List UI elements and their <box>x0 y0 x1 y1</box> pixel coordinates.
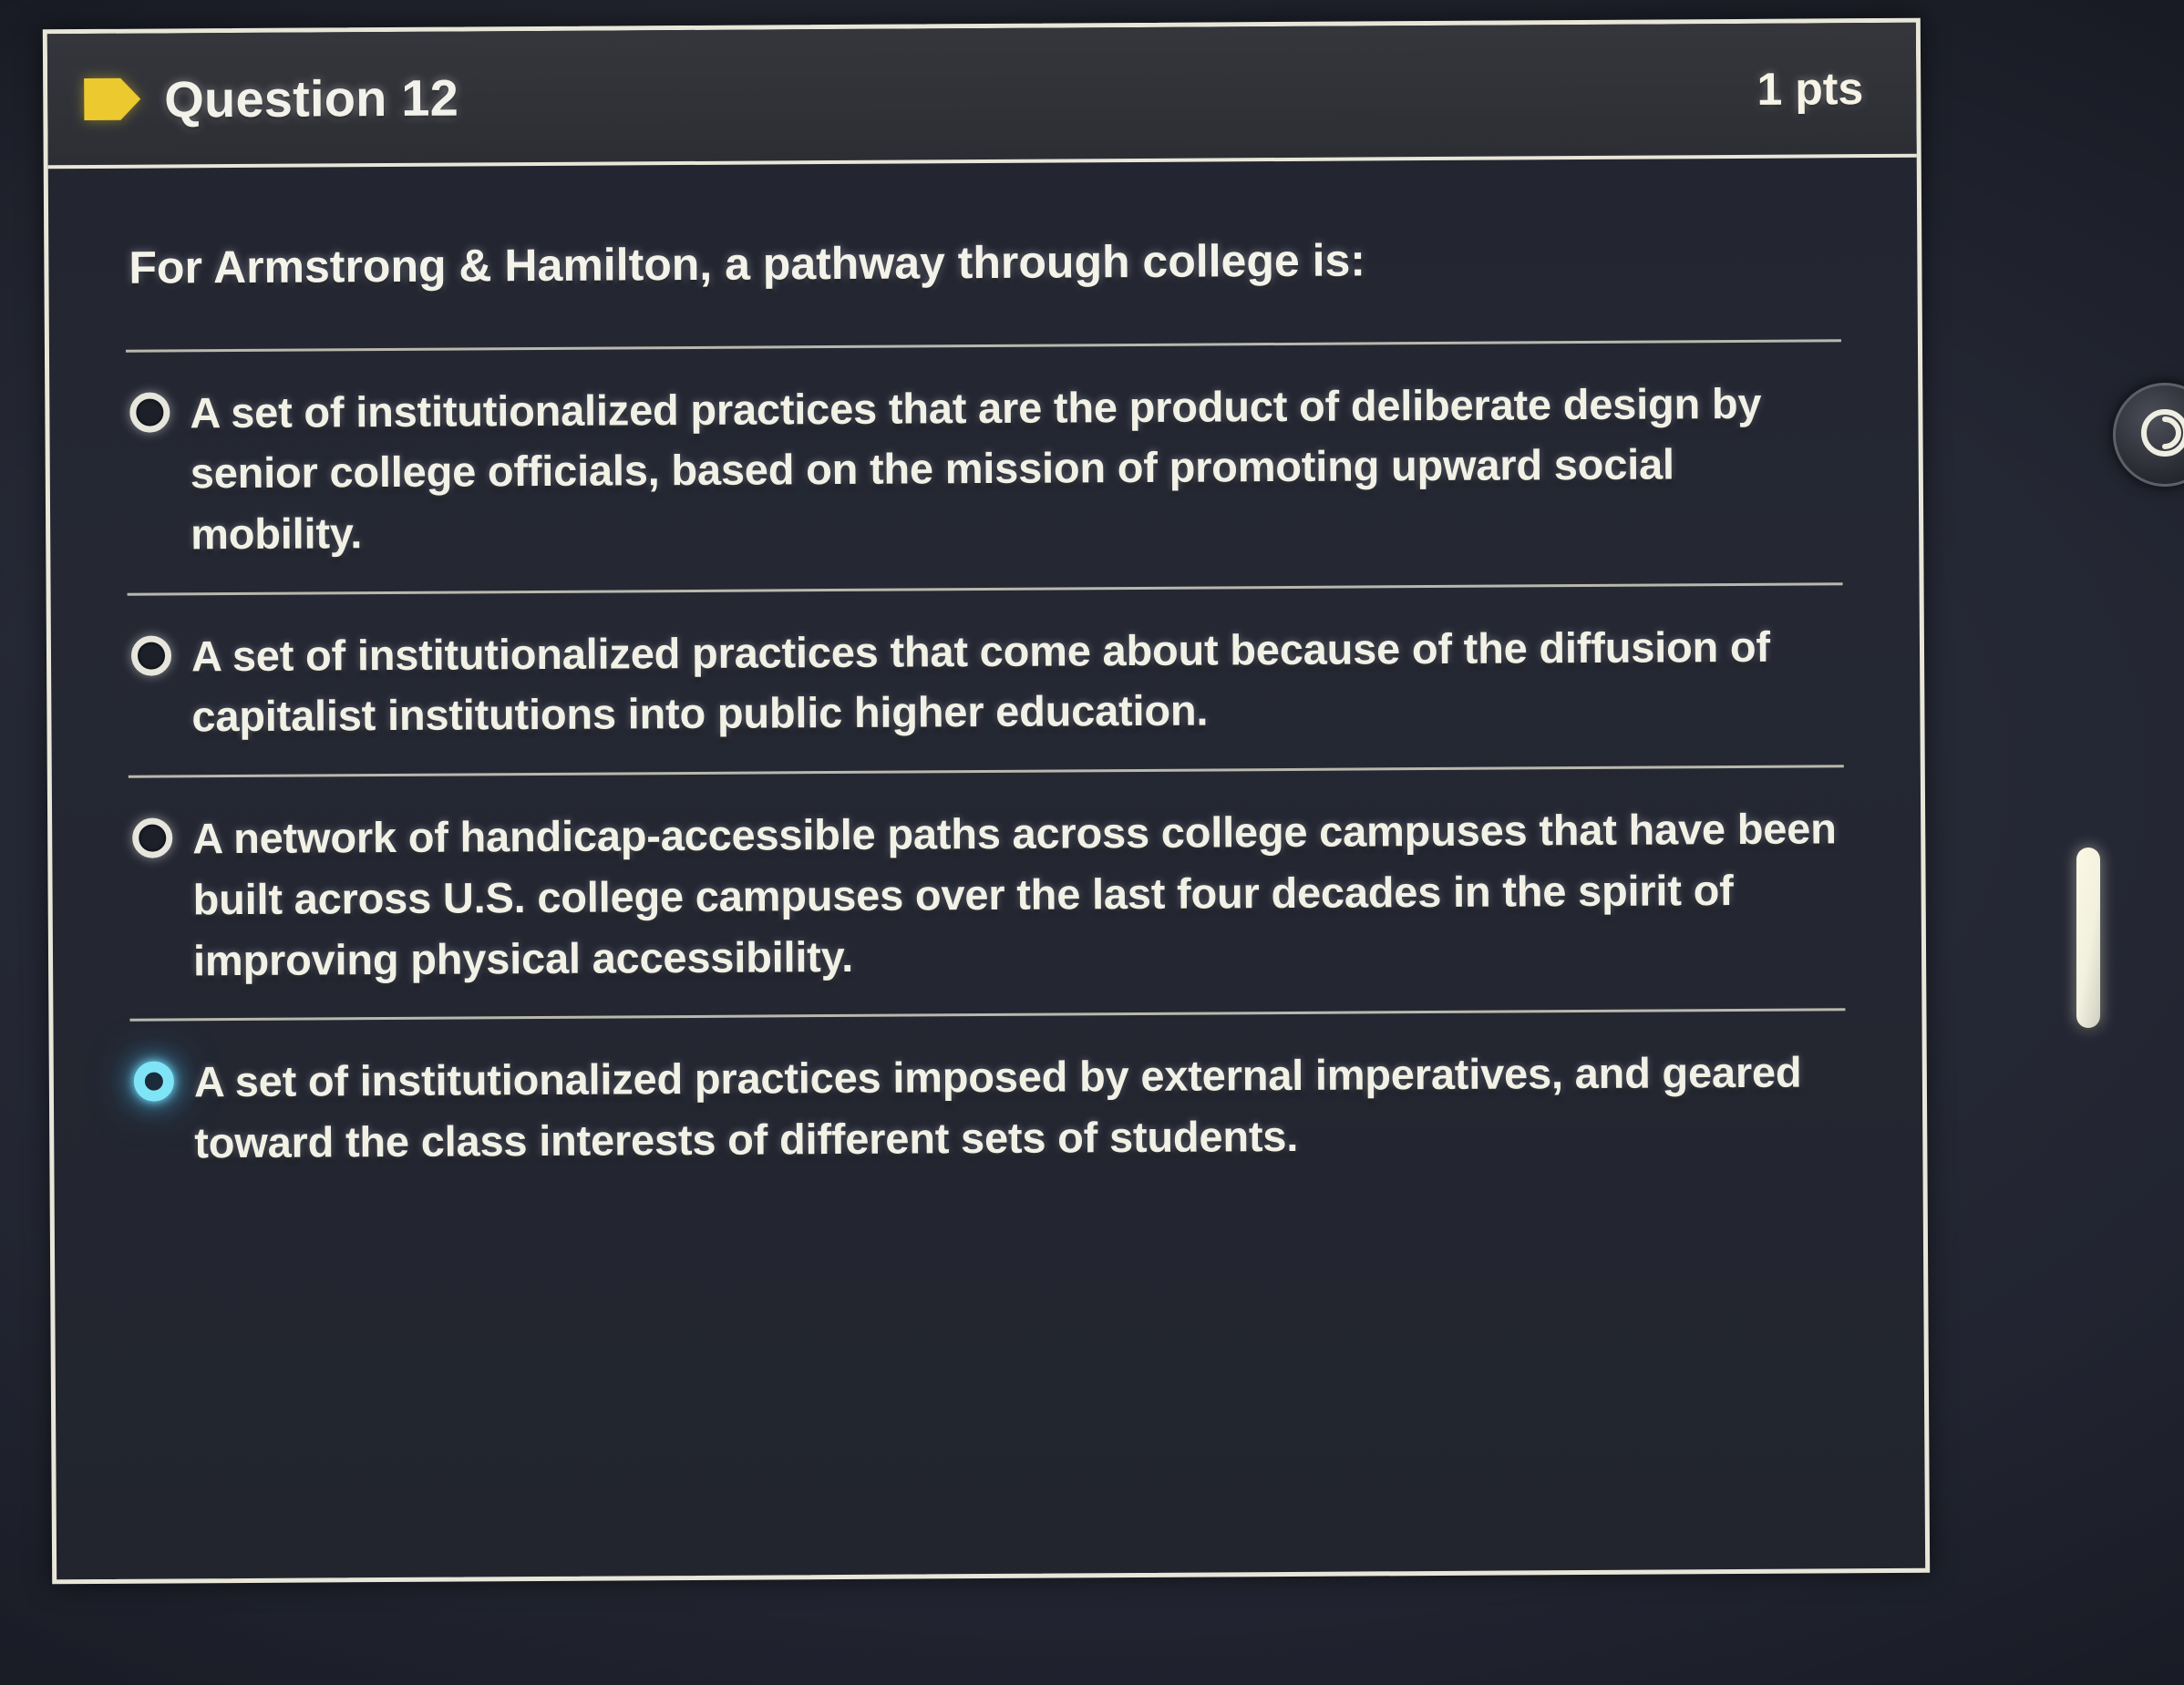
app-logo-glyph <box>2137 406 2184 463</box>
answer-option-3[interactable]: A network of handicap-accessible paths a… <box>129 765 1846 1019</box>
radio-button-3[interactable] <box>132 818 172 858</box>
question-title: Question 12 <box>164 67 458 128</box>
flag-marker-icon[interactable] <box>84 77 140 122</box>
question-header: Question 12 1 pts <box>47 23 1917 170</box>
question-prompt-text: For Armstrong & Hamilton, a pathway thro… <box>125 229 1840 296</box>
answer-option-2[interactable]: A set of institutionalized practices tha… <box>128 582 1844 776</box>
answer-options-list: A set of institutionalized practices tha… <box>126 339 1847 1202</box>
answer-option-1-label: A set of institutionalized practices tha… <box>190 373 1837 565</box>
answer-option-2-label: A set of institutionalized practices tha… <box>191 616 1839 747</box>
radio-button-1[interactable] <box>129 392 170 432</box>
answer-option-4-label: A set of institutionalized practices imp… <box>194 1043 1841 1174</box>
answer-option-4[interactable]: A set of institutionalized practices imp… <box>129 1009 1846 1202</box>
answer-option-1[interactable]: A set of institutionalized practices tha… <box>126 339 1843 593</box>
radio-button-4-selected[interactable] <box>134 1062 174 1102</box>
quiz-question-card: Question 12 1 pts For Armstrong & Hamilt… <box>43 18 1930 1585</box>
answer-option-3-label: A network of handicap-accessible paths a… <box>192 798 1839 991</box>
radio-button-2[interactable] <box>131 635 171 675</box>
question-points: 1 pts <box>1756 62 1863 116</box>
question-body: For Armstrong & Hamilton, a pathway thro… <box>48 158 1923 1238</box>
vertical-scrollbar-thumb[interactable] <box>2076 848 2100 1028</box>
